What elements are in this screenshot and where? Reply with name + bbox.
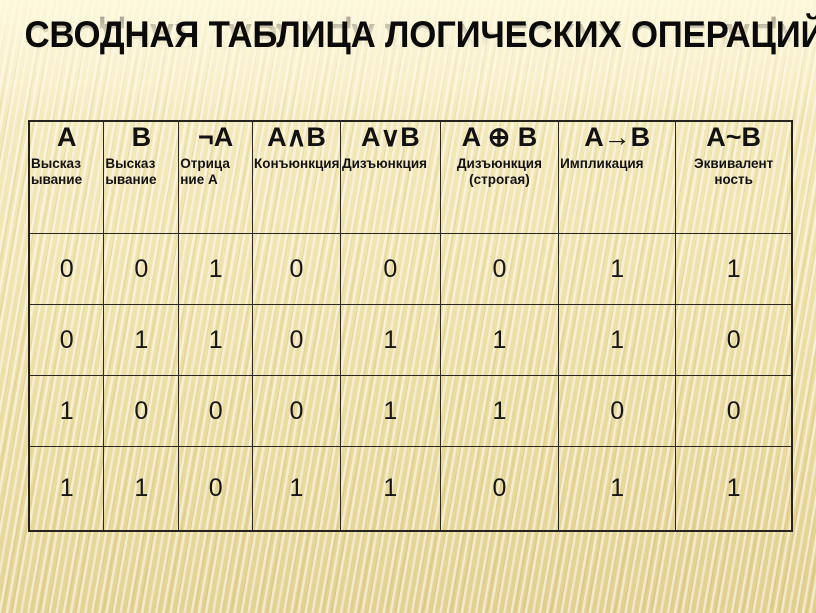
table-cell: 1 [340, 375, 440, 446]
column-name: Высказ ывание [104, 156, 178, 188]
column-name: Дизъюнкция (строгая) [441, 156, 558, 188]
table-header-cell: A∨B Дизъюнкция [340, 121, 440, 233]
column-symbol: A∧B [253, 122, 340, 153]
table-cell: 1 [440, 375, 558, 446]
column-name: Конъюнкция [253, 156, 340, 172]
table-row: 1 1 0 1 1 0 1 1 [29, 446, 792, 531]
table-cell: 1 [104, 304, 179, 375]
table-row: 0 0 1 0 0 0 1 1 [29, 233, 792, 304]
table-cell: 0 [676, 375, 792, 446]
column-name-line2: (строгая) [469, 172, 530, 187]
table-cell: 1 [253, 446, 341, 531]
column-name-line1: Высказ [105, 156, 155, 171]
slide-canvas: Сводная таблица логических операций Свод… [0, 0, 816, 613]
table-cell: 0 [440, 233, 558, 304]
table-header-cell: A~B Эквивалент ность [676, 121, 792, 233]
table-header-cell: A∧B Конъюнкция [253, 121, 341, 233]
column-symbol: B [104, 122, 178, 153]
column-name: Эквивалент ность [676, 156, 791, 188]
column-symbol: A~B [676, 122, 791, 153]
table-cell: 1 [104, 446, 179, 531]
table-cell: 0 [253, 375, 341, 446]
column-name-line1: Высказ [31, 156, 81, 171]
column-name: Импликация [559, 156, 675, 172]
table-header-row: A Высказ ывание B Высказ ывание ¬A [29, 121, 792, 233]
table-cell: 0 [253, 304, 341, 375]
column-name-line1: Импликация [560, 156, 643, 171]
table-cell: 0 [559, 375, 676, 446]
column-name: Высказ ывание [30, 156, 103, 188]
table-cell: 1 [179, 233, 253, 304]
table-cell: 1 [676, 446, 792, 531]
column-symbol: A→B [559, 122, 675, 153]
table-header-cell: A Высказ ывание [29, 121, 104, 233]
table-header-cell: A→B Импликация [559, 121, 676, 233]
column-name-line1: Эквивалент [694, 156, 773, 171]
table-cell: 0 [179, 446, 253, 531]
column-name-line1: Конъюнкция [254, 156, 339, 171]
table-cell: 1 [559, 446, 676, 531]
table-cell: 0 [340, 233, 440, 304]
column-symbol: ¬A [179, 122, 252, 153]
page-title-reflection: Сводная таблица логических операций [24, 15, 791, 57]
table-cell: 1 [29, 446, 104, 531]
column-name: Дизъюнкция [341, 156, 440, 172]
table-cell: 1 [340, 304, 440, 375]
table-cell: 0 [29, 233, 104, 304]
table-cell: 1 [340, 446, 440, 531]
column-symbol: A [30, 122, 103, 153]
table-cell: 1 [29, 375, 104, 446]
column-name-line1: Дизъюнкция [342, 156, 427, 171]
column-name-line2: ывание [31, 172, 82, 187]
table-cell: 0 [29, 304, 104, 375]
table-cell: 0 [440, 446, 558, 531]
table-row: 0 1 1 0 1 1 1 0 [29, 304, 792, 375]
column-name-line1: Отрица [180, 156, 230, 171]
column-symbol: A∨B [341, 122, 440, 153]
column-symbol: A ⊕ B [441, 122, 558, 153]
table-header-cell: A ⊕ B Дизъюнкция (строгая) [440, 121, 558, 233]
column-name-line2: ность [714, 172, 753, 187]
column-name: Отрица ние А [179, 156, 252, 188]
table-cell: 0 [676, 304, 792, 375]
table-header-cell: B Высказ ывание [104, 121, 179, 233]
column-name-line2: ывание [105, 172, 156, 187]
table-cell: 0 [253, 233, 341, 304]
table-cell: 1 [440, 304, 558, 375]
table-cell: 1 [559, 304, 676, 375]
table-row: 1 0 0 0 1 1 0 0 [29, 375, 792, 446]
table-cell: 1 [676, 233, 792, 304]
column-name-line2: ние А [180, 172, 217, 187]
column-name-line1: Дизъюнкция [457, 156, 542, 171]
truth-table: A Высказ ывание B Высказ ывание ¬A [28, 120, 793, 532]
table-cell: 1 [179, 304, 253, 375]
table-header-cell: ¬A Отрица ние А [179, 121, 253, 233]
title-block: Сводная таблица логических операций Свод… [0, 14, 816, 99]
table-cell: 0 [179, 375, 253, 446]
table-cell: 0 [104, 375, 179, 446]
table-cell: 0 [104, 233, 179, 304]
table-cell: 1 [559, 233, 676, 304]
